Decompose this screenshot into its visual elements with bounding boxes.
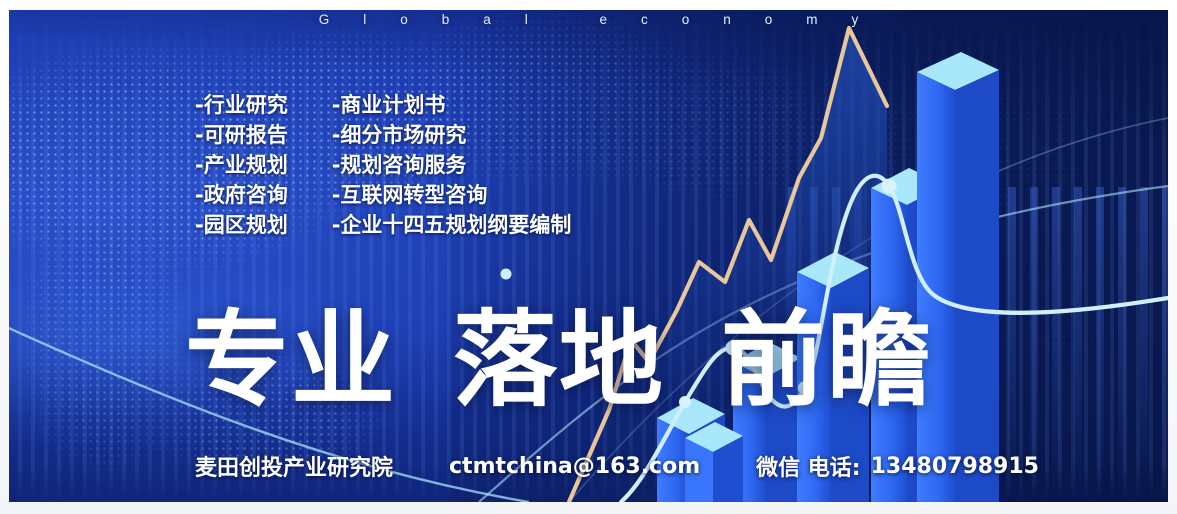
headline-word: 前瞻: [721, 306, 933, 415]
service-item: -企业十四五规划纲要编制: [332, 210, 572, 240]
banner-canvas: Global economy -行业研究 -可研报告 -产业规划 -政府咨询 -…: [9, 10, 1168, 502]
service-item: -规划咨询服务: [332, 150, 572, 180]
kicker-text: Global economy: [9, 12, 1168, 27]
service-item: -行业研究: [195, 90, 288, 120]
service-item: -产业规划: [195, 150, 288, 180]
service-item: -互联网转型咨询: [332, 180, 572, 210]
headline-word: 专业: [185, 306, 397, 415]
services-column-right: -商业计划书 -细分市场研究 -规划咨询服务 -互联网转型咨询 -企业十四五规划…: [332, 90, 572, 240]
bar-5: [917, 52, 999, 502]
email-address: ctmtchina@163.com: [449, 454, 700, 479]
service-item: -细分市场研究: [332, 120, 572, 150]
headline: 专业 落地 前瞻: [185, 306, 933, 415]
footer-contact-bar: 麦田创投产业研究院 ctmtchina@163.com 微信 电话: 13480…: [195, 450, 1039, 482]
services-list: -行业研究 -可研报告 -产业规划 -政府咨询 -园区规划 -商业计划书 -细分…: [195, 90, 571, 240]
service-item: -可研报告: [195, 120, 288, 150]
services-column-left: -行业研究 -可研报告 -产业规划 -政府咨询 -园区规划: [195, 90, 288, 240]
service-item: -政府咨询: [195, 180, 288, 210]
economy-growth-chart: [9, 10, 1168, 502]
service-item: -商业计划书: [332, 90, 572, 120]
headline-word: 落地: [453, 306, 665, 415]
banner-image: Global economy -行业研究 -可研报告 -产业规划 -政府咨询 -…: [0, 0, 1177, 514]
phone-number: 13480798915: [871, 454, 1039, 479]
organization-name: 麦田创投产业研究院: [195, 450, 393, 482]
phone-block: 微信 电话: 13480798915: [756, 450, 1039, 482]
service-item: -园区规划: [195, 210, 288, 240]
contact-label: 微信 电话:: [756, 450, 860, 482]
